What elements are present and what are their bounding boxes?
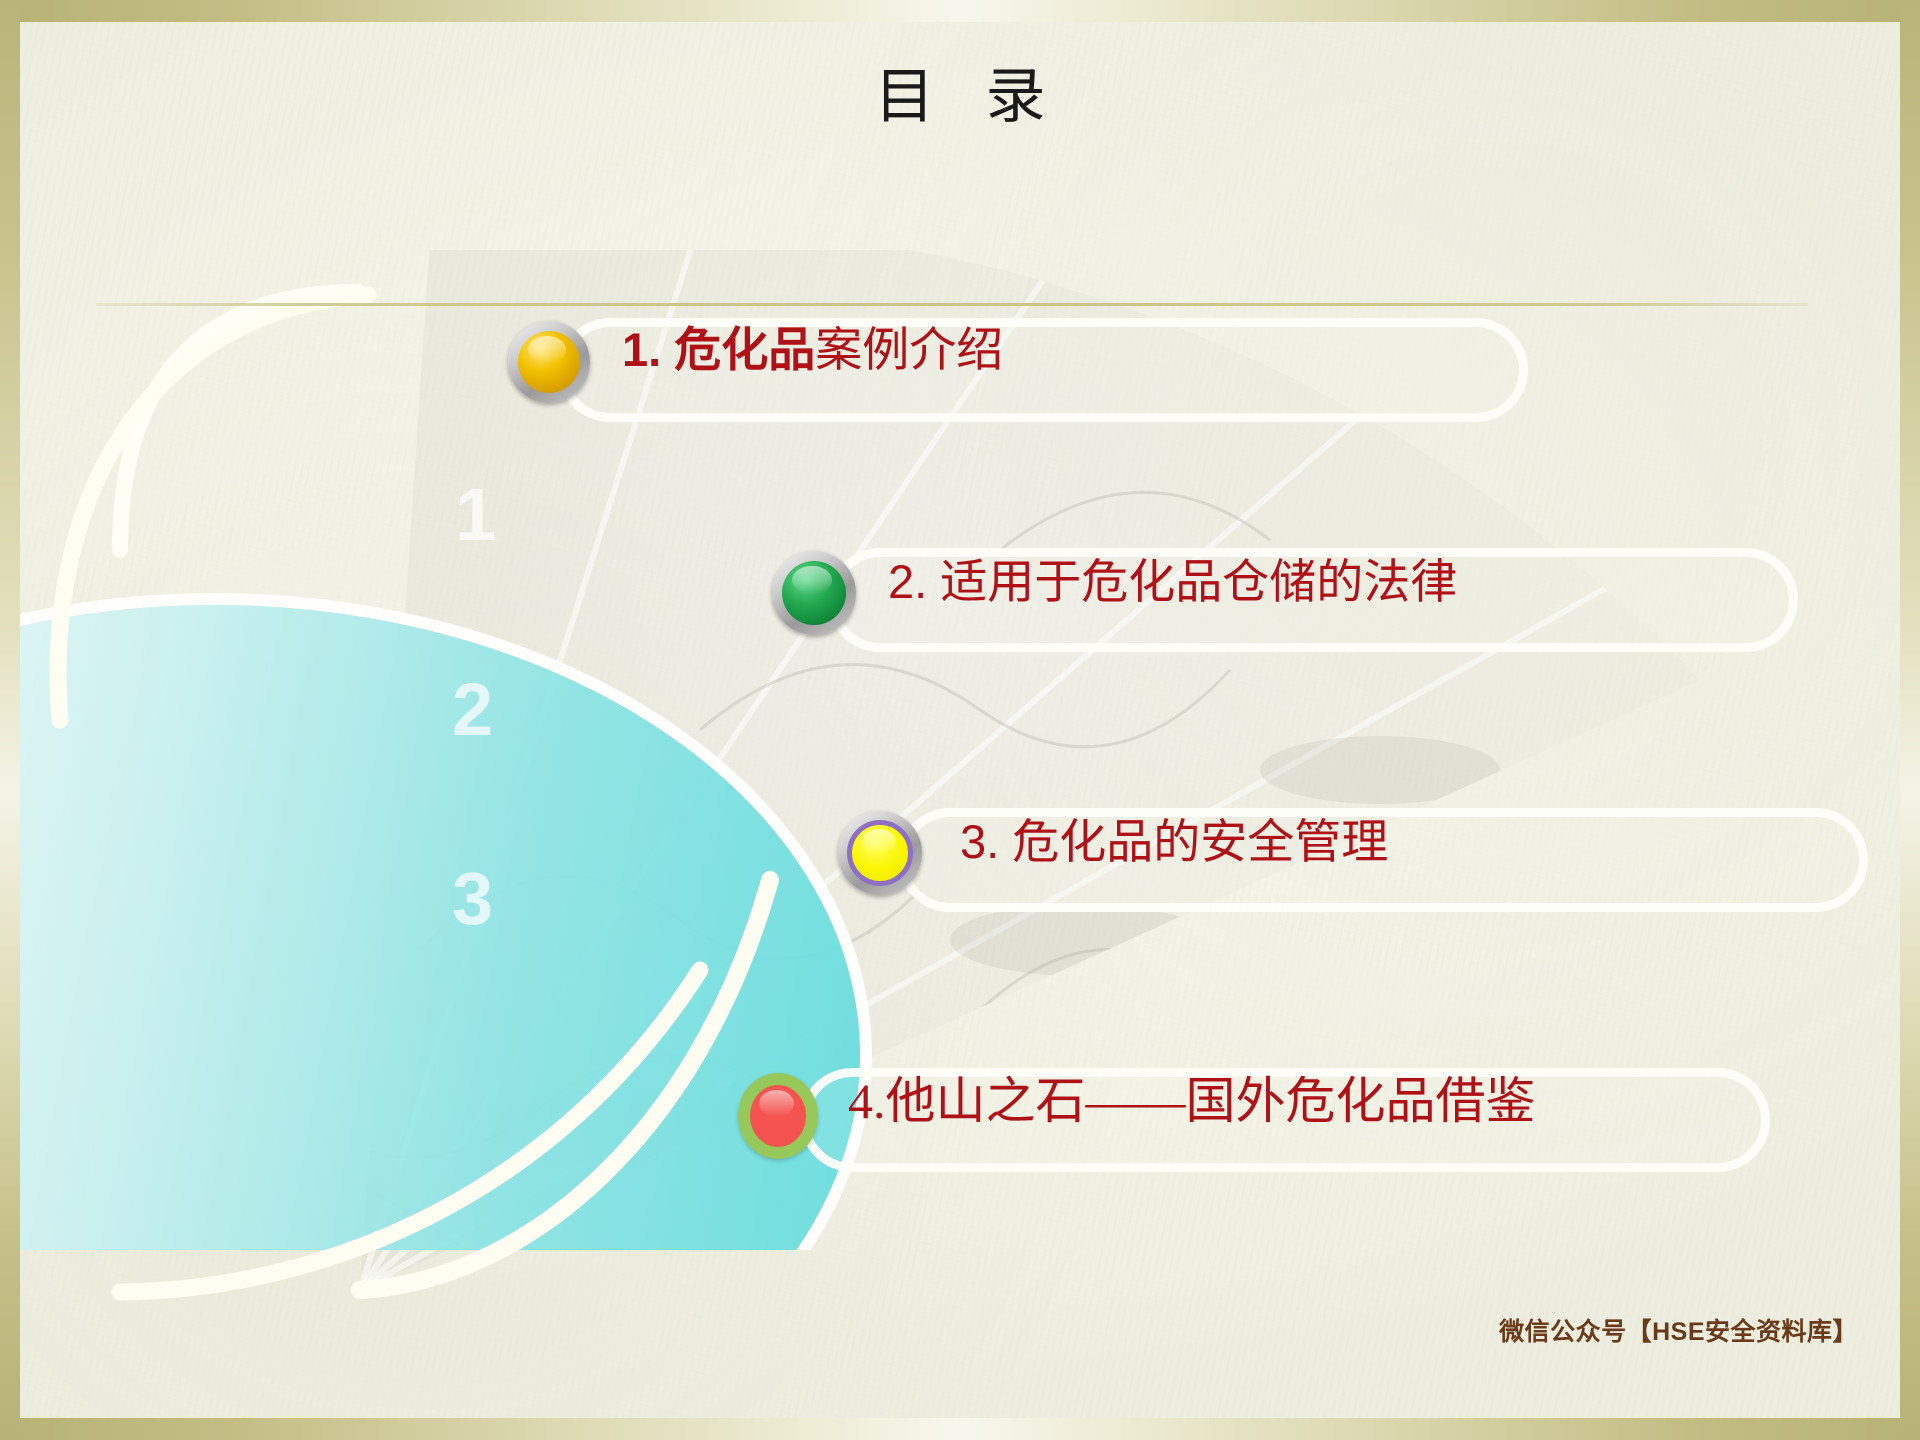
title-divider bbox=[96, 303, 1808, 306]
frame-border-top bbox=[0, 0, 1920, 22]
frame-border-left bbox=[0, 0, 20, 1440]
white-sweep-arc-lower bbox=[300, 760, 820, 1320]
bullet-marker-2[interactable] bbox=[772, 551, 856, 635]
bullet-marker-1[interactable] bbox=[508, 321, 590, 403]
page-title: 目 录 bbox=[0, 48, 1920, 135]
contents-item-1-rest: 案例介绍 bbox=[815, 323, 1003, 376]
slide-canvas: 目 录 1 2 3 1. 危化品案例介绍 2. 适用于危化品仓储的法律 3. 危… bbox=[0, 0, 1920, 1440]
frame-border-bottom bbox=[0, 1418, 1920, 1440]
contents-item-label-3[interactable]: 3. 危化品的安全管理 bbox=[960, 818, 1388, 865]
bullet-marker-3[interactable] bbox=[838, 811, 922, 895]
wechat-watermark: 微信公众号【HSE安全资料库】 bbox=[1499, 1312, 1858, 1348]
contents-item-label-2[interactable]: 2. 适用于危化品仓储的法律 bbox=[888, 558, 1457, 605]
fan-step-number-1: 1 bbox=[455, 478, 496, 552]
contents-item-1-strong: 1. 危化品 bbox=[622, 323, 815, 376]
contents-item-label-1[interactable]: 1. 危化品案例介绍 bbox=[622, 326, 1003, 373]
fan-step-number-2: 2 bbox=[452, 673, 493, 747]
frame-border-right bbox=[1900, 0, 1920, 1440]
bullet-marker-4[interactable] bbox=[738, 1073, 818, 1159]
fan-step-number-3: 3 bbox=[452, 862, 493, 936]
contents-item-label-4[interactable]: 4.他山之石——国外危化品借鉴 bbox=[848, 1076, 1536, 1126]
